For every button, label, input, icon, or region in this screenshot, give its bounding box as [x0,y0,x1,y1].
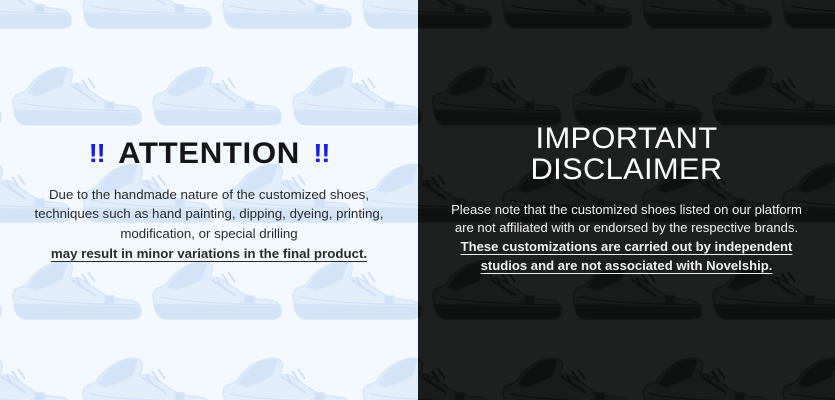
attention-panel: !! ATTENTION !! Due to the handmade natu… [0,0,418,400]
attention-body-emphasis: may result in minor variations in the fi… [51,246,367,261]
disclaimer-body-text: Please note that the customized shoes li… [444,201,809,276]
disclaimer-heading: IMPORTANT DISCLAIMER [439,124,815,185]
double-exclamation-left-icon: !! [89,138,105,169]
disclaimer-body-emphasis: These customizations are carried out by … [461,239,793,273]
promo-banner: !! ATTENTION !! Due to the handmade natu… [0,0,835,400]
attention-heading: !! ATTENTION !! [19,137,400,171]
disclaimer-panel: IMPORTANT DISCLAIMER Please note that th… [418,0,835,400]
disclaimer-heading-line1: IMPORTANT [439,124,815,155]
disclaimer-heading-line2: DISCLAIMER [439,155,815,186]
attention-body-normal: Due to the handmade nature of the custom… [26,185,392,244]
attention-body-text: Due to the handmade nature of the custom… [26,185,392,263]
disclaimer-body-normal: Please note that the customized shoes li… [451,202,802,236]
attention-title: ATTENTION [118,137,300,171]
disclaimer-content: IMPORTANT DISCLAIMER Please note that th… [418,124,835,275]
attention-content: !! ATTENTION !! Due to the handmade natu… [0,137,418,263]
double-exclamation-right-icon: !! [313,138,329,169]
